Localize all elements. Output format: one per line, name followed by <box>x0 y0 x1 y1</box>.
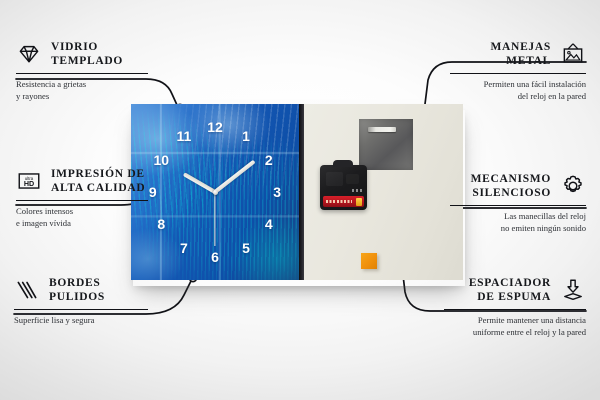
clock-numeral-1: 1 <box>242 129 250 143</box>
callout-rule <box>16 73 148 75</box>
callout-title: ESPACIADOR DE ESPUMA <box>469 276 551 305</box>
callout-rule <box>450 205 586 207</box>
clock-back-panel <box>304 104 463 280</box>
clock-front-face: 12 1 2 3 4 5 6 7 8 9 10 11 <box>131 104 299 280</box>
diamond-icon <box>16 41 42 67</box>
callout-bordes-pulidos: BORDES PULIDOS Superficie lisa y segura <box>14 276 148 326</box>
clock-numeral-4: 4 <box>265 217 273 231</box>
svg-text:HD: HD <box>24 180 34 188</box>
infographic-canvas: 12 1 2 3 4 5 6 7 8 9 10 11 <box>0 0 600 400</box>
battery <box>323 196 364 207</box>
callout-manejas-metal: MANEJAS METAL Permiten una fácil instala… <box>450 40 586 103</box>
battery-label <box>326 200 352 203</box>
clock-numeral-5: 5 <box>242 241 250 255</box>
clock-numeral-8: 8 <box>157 217 165 231</box>
callout-header: MECANISMO SILENCIOSO <box>450 172 586 201</box>
clock-numeral-12: 12 <box>207 120 223 134</box>
foam-spacer-arrow-icon <box>560 277 586 303</box>
clock-numeral-11: 11 <box>177 129 192 143</box>
clock-numeral-2: 2 <box>265 153 273 167</box>
battery-terminal <box>356 198 362 206</box>
metal-hanger-plate <box>359 119 413 170</box>
clock-numeral-3: 3 <box>273 185 281 199</box>
callout-header: ultra HD IMPRESIÓN DE ALTA CALIDAD <box>16 167 148 196</box>
callout-title: MECANISMO SILENCIOSO <box>471 172 551 201</box>
foam-spacer <box>361 253 377 269</box>
product-image: 12 1 2 3 4 5 6 7 8 9 10 11 <box>131 104 463 280</box>
callout-rule <box>450 73 586 75</box>
callout-subtitle: Permite mantener una distancia uniforme … <box>444 314 586 338</box>
clock-numeral-10: 10 <box>153 153 169 167</box>
callout-header: MANEJAS METAL <box>450 40 586 69</box>
clock-numeral-7: 7 <box>180 241 188 255</box>
callout-title: IMPRESIÓN DE ALTA CALIDAD <box>51 167 145 196</box>
ultra-hd-icon: ultra HD <box>16 168 42 194</box>
polished-edges-icon <box>14 277 40 303</box>
callout-title: VIDRIO TEMPLADO <box>51 40 123 69</box>
clock-numeral-9: 9 <box>149 185 157 199</box>
mechanism-markings <box>352 189 363 192</box>
callout-subtitle: Las manecillas del reloj no emiten ningú… <box>450 210 586 234</box>
callout-rule <box>16 200 148 202</box>
callout-title: BORDES PULIDOS <box>49 276 105 305</box>
mechanism-detail-right <box>346 174 359 184</box>
callout-subtitle: Superficie lisa y segura <box>14 314 148 326</box>
callout-subtitle: Resistencia a grietas y rayones <box>16 78 148 102</box>
wall-hanging-frame-icon <box>560 41 586 67</box>
callout-vidrio-templado: VIDRIO TEMPLADO Resistencia a grietas y … <box>16 40 148 103</box>
callout-header: BORDES PULIDOS <box>14 276 148 305</box>
callout-impresion-alta-calidad: ultra HD IMPRESIÓN DE ALTA CALIDAD Color… <box>16 167 148 230</box>
callout-espaciador-de-espuma: ESPACIADOR DE ESPUMA Permite mantener un… <box>444 276 586 339</box>
clock-numeral-6: 6 <box>211 250 219 264</box>
callout-subtitle: Permiten una fácil instalación del reloj… <box>450 78 586 102</box>
callout-mecanismo-silencioso: MECANISMO SILENCIOSO Las manecillas del … <box>450 172 586 235</box>
callout-rule <box>444 309 586 311</box>
gear-icon <box>560 173 586 199</box>
callout-title: MANEJAS METAL <box>491 40 552 69</box>
mechanism-tab <box>333 160 353 167</box>
callout-header: VIDRIO TEMPLADO <box>16 40 148 69</box>
callout-header: ESPACIADOR DE ESPUMA <box>444 276 586 305</box>
callout-subtitle: Colores intensos e imagen vívida <box>16 205 148 229</box>
callout-rule <box>14 309 148 311</box>
clock-mechanism-box <box>320 165 367 210</box>
clock-center-cap <box>213 190 218 195</box>
mechanism-detail-left <box>326 172 343 186</box>
hanger-slot <box>368 127 396 132</box>
